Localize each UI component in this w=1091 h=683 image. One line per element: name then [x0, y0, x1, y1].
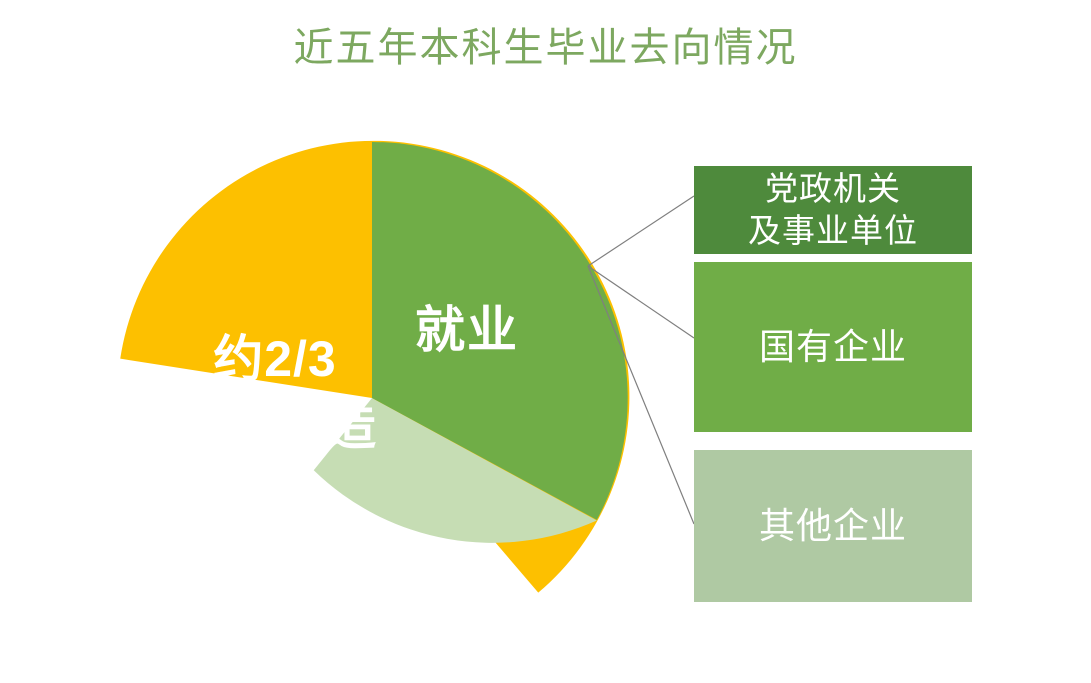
legend-item-government-label: 党政机关 及事业单位	[748, 168, 918, 252]
pie-chart-svg	[0, 0, 700, 683]
legend-item-state-owned-enterprise[interactable]: 国有企业	[694, 262, 972, 432]
leader-line-0	[588, 196, 694, 266]
legend-item-state-owned-enterprise-label: 国有企业	[759, 326, 907, 368]
legend-item-other-enterprise-label: 其他企业	[759, 505, 907, 547]
pie-chart: 就业 约2/3 继续深造	[0, 0, 700, 683]
legend-item-other-enterprise[interactable]: 其他企业	[694, 450, 972, 602]
slide-canvas: 近五年本科生毕业去向情况 就业 约2/3 继续深造 党政机关 及事业单位 国有企…	[0, 0, 1091, 683]
legend-item-government[interactable]: 党政机关 及事业单位	[694, 166, 972, 254]
